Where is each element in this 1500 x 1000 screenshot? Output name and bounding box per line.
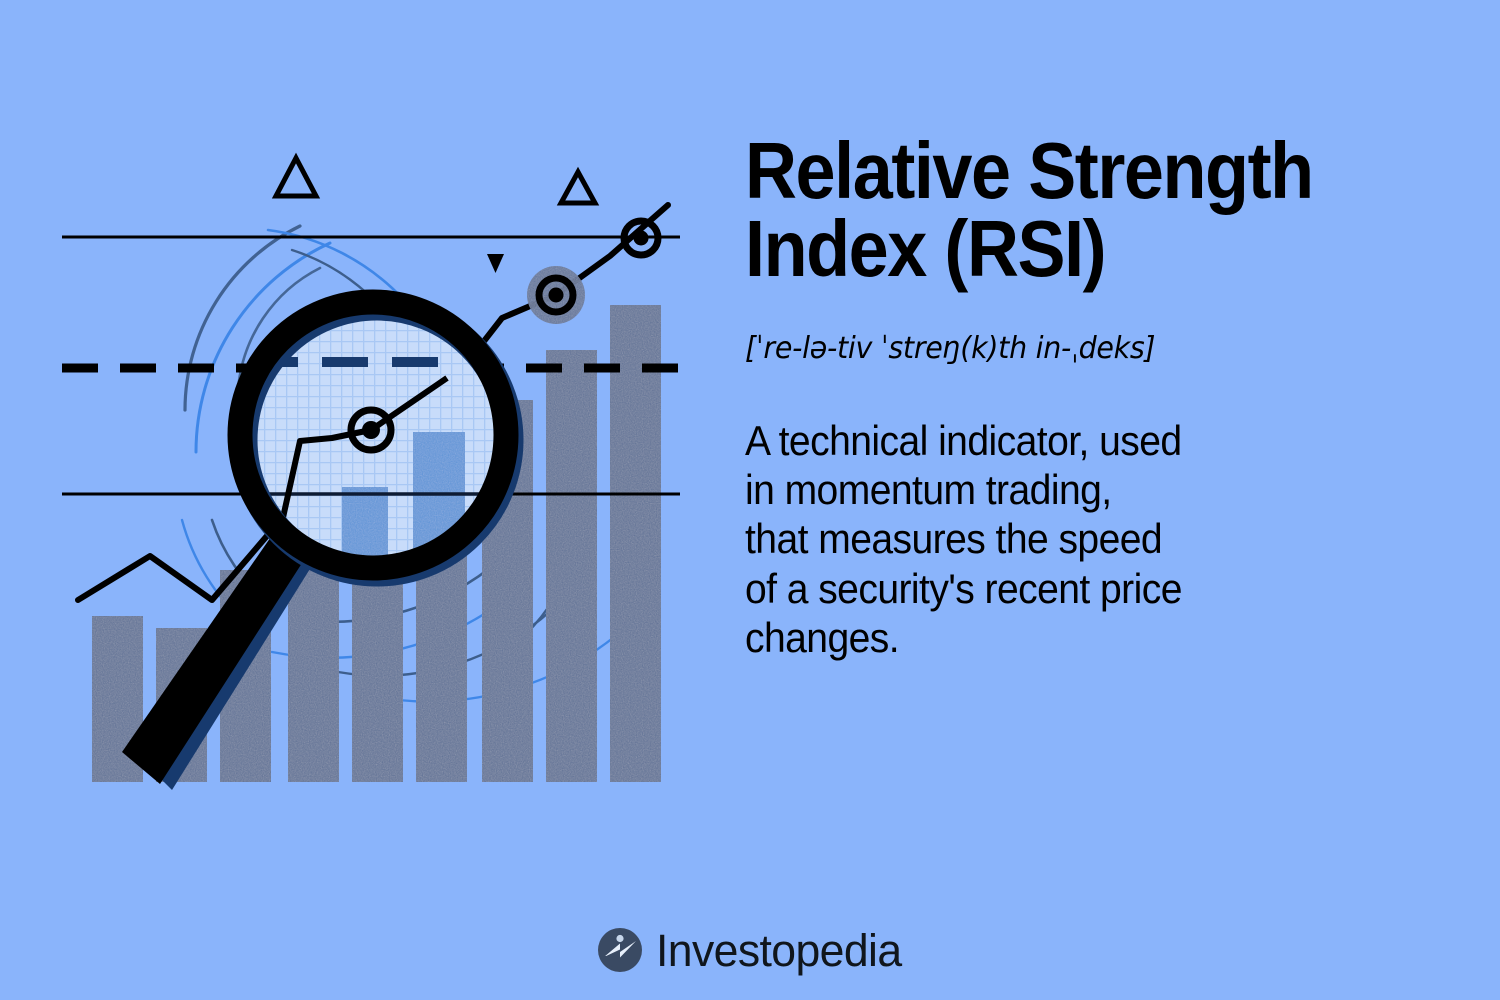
bar	[546, 350, 597, 782]
investopedia-wordmark: Investopedia	[656, 928, 902, 973]
investopedia-logo-mark	[597, 927, 643, 973]
graphic-card: Relative Strength Index (RSI) [ˈre-lə-ti…	[0, 0, 1500, 1000]
page-title: Relative Strength Index (RSI)	[745, 132, 1384, 287]
text-column: Relative Strength Index (RSI) [ˈre-lə-ti…	[745, 132, 1455, 662]
bar	[610, 305, 661, 782]
pronunciation: [ˈre-lə-tiv ˈstreŋ(k)th in-ˌdeks]	[745, 331, 1420, 366]
data-point-marker-mid	[527, 266, 585, 324]
investopedia-logo[interactable]: Investopedia	[0, 922, 1500, 978]
definition-text: A technical indicator, used in momentum …	[745, 416, 1452, 662]
rsi-illustration	[0, 0, 740, 900]
